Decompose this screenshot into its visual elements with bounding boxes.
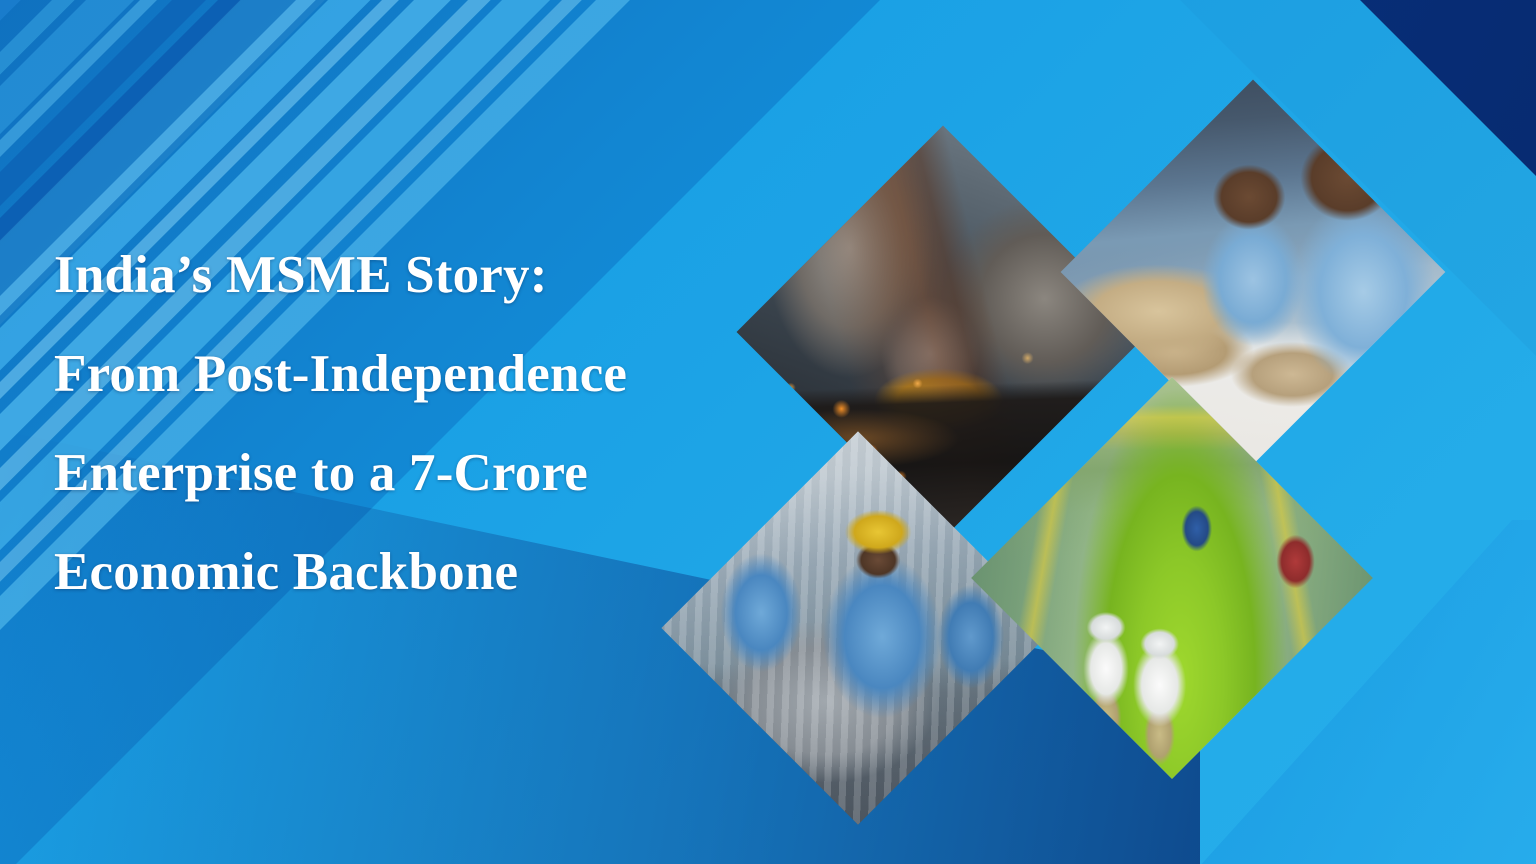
poster-canvas: India’s MSME Story: From Post-Independen… bbox=[0, 0, 1536, 864]
poster-title: India’s MSME Story: From Post-Independen… bbox=[54, 226, 754, 622]
title-line-2: From Post-Independence bbox=[54, 325, 754, 424]
title-line-4: Economic Backbone bbox=[54, 523, 754, 622]
title-line-1: India’s MSME Story: bbox=[54, 226, 754, 325]
title-line-3: Enterprise to a 7-Crore bbox=[54, 424, 754, 523]
